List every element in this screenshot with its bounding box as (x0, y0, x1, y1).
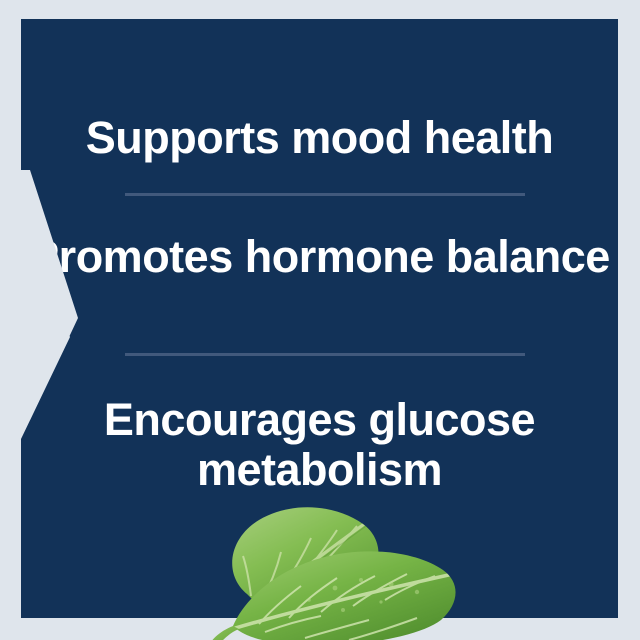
divider-1 (125, 193, 525, 196)
benefit-text-3: Encourages glucose metabolism (21, 395, 618, 496)
benefit-text-2: Promotes hormone balance (21, 232, 618, 282)
benefit-callout-graphic: Supports mood health Promotes hormone ba… (0, 0, 640, 640)
divider-2 (125, 353, 525, 356)
chevron-right-overlay (0, 170, 90, 420)
navy-panel: Supports mood health Promotes hormone ba… (21, 19, 618, 618)
benefit-text-1: Supports mood health (21, 113, 618, 163)
